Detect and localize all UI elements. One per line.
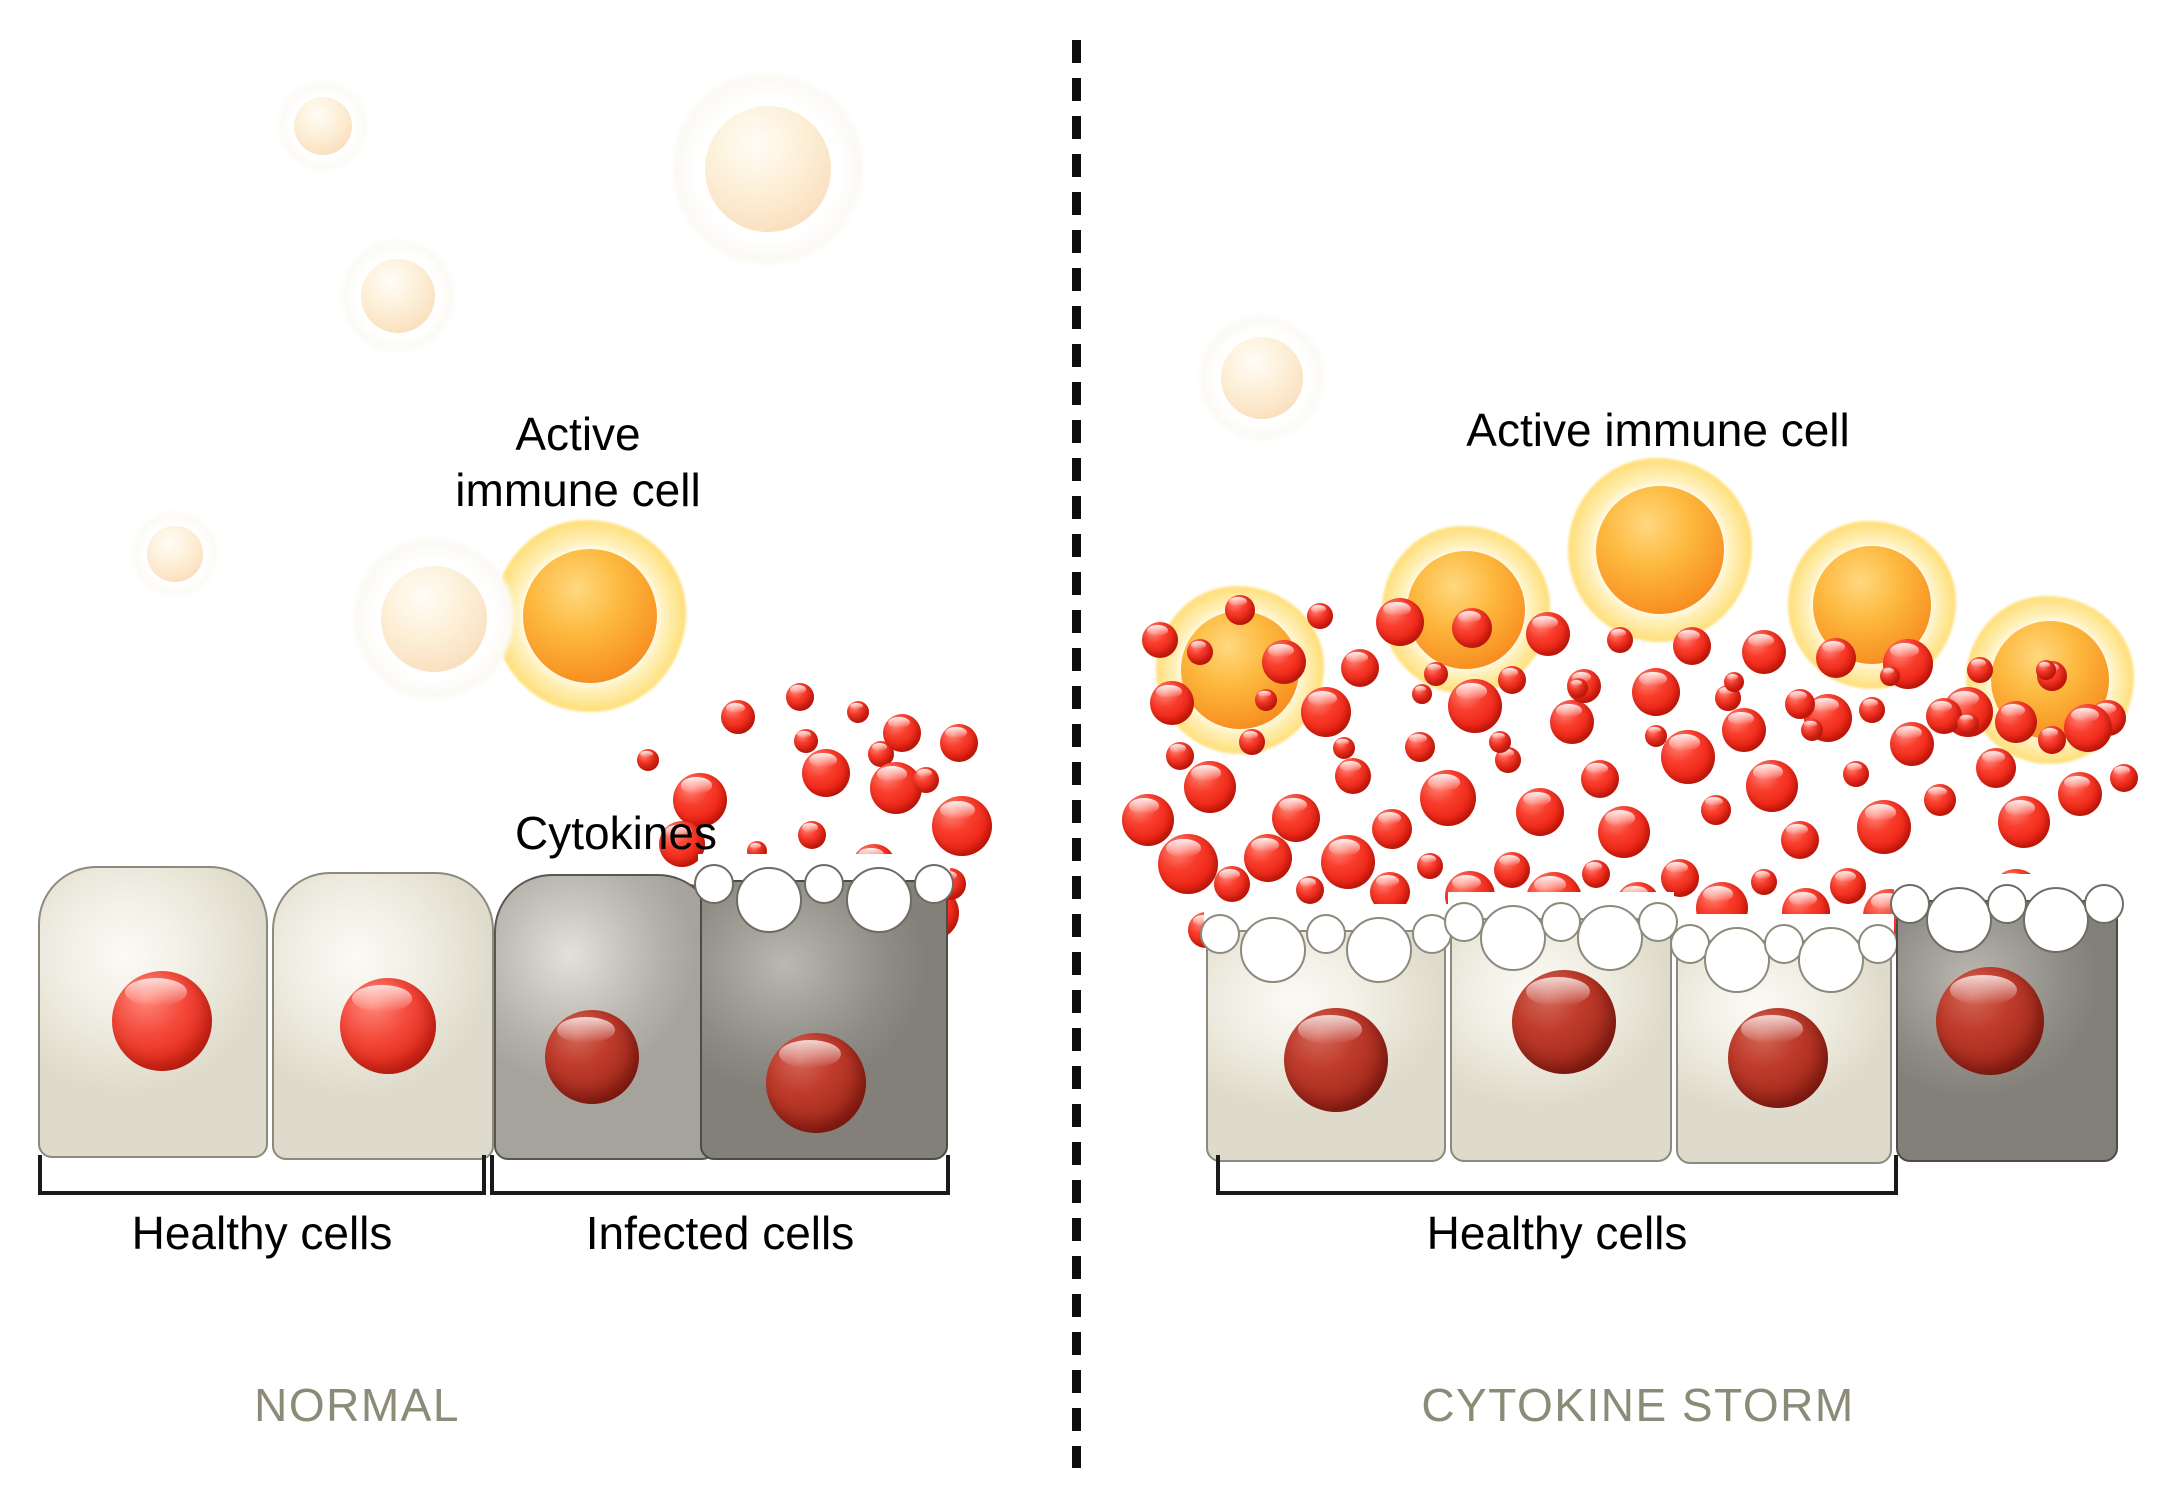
- cytokine-particle: [1998, 796, 2050, 848]
- cytokine-particle: [1184, 761, 1236, 813]
- cytokine-particle: [1568, 678, 1588, 698]
- cytokine-particle: [1967, 657, 1993, 683]
- inactive-immune-cell-1: [279, 82, 367, 170]
- cytokine-particle: [1785, 689, 1815, 719]
- cell-nucleus: [1512, 970, 1616, 1074]
- membrane-erosion: [1926, 887, 1992, 953]
- cytokine-particle: [870, 762, 922, 814]
- cytokine-particle: [794, 729, 818, 753]
- membrane-erosion: [1240, 917, 1306, 983]
- cytokine-particle: [1341, 649, 1379, 687]
- cytokine-particle: [2036, 660, 2056, 680]
- cytokine-particle: [1550, 700, 1594, 744]
- cell-nucleus: [1284, 1008, 1388, 1112]
- cytokine-particle: [1255, 689, 1277, 711]
- cytokine-particle: [1489, 731, 1511, 753]
- cytokine-particle: [1526, 612, 1570, 656]
- cytokine-particle: [1746, 760, 1798, 812]
- left-panel-title: NORMAL: [254, 1378, 460, 1432]
- cytokine-particle: [1582, 860, 1610, 888]
- cytokine-particle: [1272, 794, 1320, 842]
- cytokine-particle: [1150, 681, 1194, 725]
- membrane-erosion: [2084, 884, 2124, 924]
- inactive-immune-cell-4: [133, 512, 217, 596]
- cytokine-particle: [1448, 679, 1502, 733]
- membrane-erosion: [1704, 927, 1770, 993]
- healthy-cells-bracket: [1216, 1155, 1898, 1195]
- cytokine-particle: [1857, 800, 1911, 854]
- membrane-erosion: [1200, 914, 1240, 954]
- cytokine-particle: [2064, 704, 2112, 752]
- cytokine-particle: [1830, 868, 1866, 904]
- cytokine-particle: [1924, 784, 1956, 816]
- cytokine-particle: [1976, 748, 2016, 788]
- cytokine-particle: [1244, 834, 1292, 882]
- cytokine-particle: [1417, 853, 1443, 879]
- cytokine-particle: [1781, 821, 1819, 859]
- cytokine-particle: [1607, 627, 1633, 653]
- cytokine-particle: [1335, 758, 1371, 794]
- cytokine-particle: [1724, 672, 1744, 692]
- immune-cell-core: [705, 106, 830, 231]
- cytokine-particle: [1412, 684, 1432, 704]
- cytokine-particle: [1452, 608, 1492, 648]
- cytokine-particle: [1751, 869, 1777, 895]
- immune-cell-core: [294, 97, 352, 155]
- cytokine-particle: [1372, 809, 1412, 849]
- cytokine-particle: [1158, 834, 1218, 894]
- immune-cell-core: [361, 259, 435, 333]
- healthy-cells-label: Healthy cells: [1427, 1205, 1688, 1261]
- cytokine-particle: [1166, 742, 1194, 770]
- cytokine-particle: [1995, 701, 2037, 743]
- membrane-erosion: [804, 864, 844, 904]
- cytokine-particle: [1296, 876, 1324, 904]
- inactive-immune-cell-3: [673, 74, 863, 264]
- inactive-immune-cell-5: [354, 539, 514, 699]
- infected-cells-label: Infected cells: [586, 1205, 854, 1261]
- cytokine-particle: [1494, 852, 1530, 888]
- cytokine-particle: [1333, 737, 1355, 759]
- healthy-cells-bracket: [38, 1155, 486, 1195]
- cytokine-particle: [1661, 730, 1715, 784]
- active-immune-cell-label: Active immune cell: [455, 406, 700, 518]
- cytokine-particle: [1645, 725, 1667, 747]
- cell-nucleus: [1936, 967, 2044, 1075]
- membrane-erosion: [914, 864, 954, 904]
- membrane-erosion: [1987, 884, 2027, 924]
- cytokine-particle: [1239, 729, 1265, 755]
- active-immune-cell-1: [494, 520, 686, 712]
- cytokine-particle: [1376, 598, 1424, 646]
- cytokine-particle: [1581, 760, 1619, 798]
- cytokine-particle: [1262, 640, 1306, 684]
- cytokine-particle: [883, 714, 921, 752]
- cytokine-particle: [798, 821, 826, 849]
- cytokine-particle: [1420, 770, 1476, 826]
- cytokine-particle: [2110, 764, 2138, 792]
- cytokine-particle: [1957, 713, 1979, 735]
- membrane-erosion: [1444, 902, 1484, 942]
- membrane-erosion: [1541, 902, 1581, 942]
- membrane-erosion: [846, 867, 912, 933]
- cytokine-particle: [1742, 630, 1786, 674]
- cytokine-particle: [1225, 595, 1255, 625]
- cytokine-particle: [940, 724, 978, 762]
- cytokine-particle: [721, 700, 755, 734]
- cytokine-particle: [1801, 719, 1823, 741]
- cytokine-particle: [913, 767, 939, 793]
- immune-cell-core: [381, 566, 487, 672]
- membrane-erosion: [1306, 914, 1346, 954]
- cytokine-particle: [1321, 835, 1375, 889]
- cytokine-particle: [1307, 603, 1333, 629]
- cytokine-particle: [1214, 866, 1250, 902]
- cell-nucleus: [112, 971, 212, 1071]
- healthy-cells-label: Healthy cells: [132, 1205, 393, 1261]
- cytokines-label: Cytokines: [515, 805, 717, 861]
- cytokine-particle: [847, 701, 869, 723]
- cytokine-particle: [2038, 726, 2066, 754]
- membrane-erosion: [736, 867, 802, 933]
- figure-canvas: Active immune cell Cytokines Healthy cel…: [0, 0, 2164, 1508]
- membrane-erosion: [1890, 884, 1930, 924]
- immune-cell-core: [147, 526, 202, 581]
- cell-nucleus: [766, 1033, 866, 1133]
- cell-nucleus: [545, 1010, 639, 1104]
- membrane-erosion: [694, 864, 734, 904]
- cytokine-particle: [1722, 708, 1766, 752]
- cytokine-particle: [1926, 698, 1962, 734]
- cytokine-particle: [1498, 666, 1526, 694]
- cell-nucleus: [1728, 1008, 1828, 1108]
- membrane-erosion: [1346, 917, 1412, 983]
- cell-nucleus: [340, 978, 436, 1074]
- right-panel-title: CYTOKINE STORM: [1421, 1378, 1854, 1432]
- inactive-immune-cell-1: [1200, 316, 1324, 440]
- cytokine-particle: [1843, 761, 1869, 787]
- panel-divider: [1072, 40, 1081, 1468]
- cytokine-particle: [1673, 627, 1711, 665]
- membrane-erosion: [2023, 887, 2089, 953]
- cytokine-particle: [802, 749, 850, 797]
- cytokine-particle: [1187, 639, 1213, 665]
- cytokine-particle: [1859, 697, 1885, 723]
- membrane-erosion: [1798, 927, 1864, 993]
- membrane-erosion: [1480, 905, 1546, 971]
- cytokine-particle: [1122, 794, 1174, 846]
- active-immune-cell-label: Active immune cell: [1466, 402, 1849, 458]
- immune-cell-core: [523, 549, 657, 683]
- cytokine-particle: [786, 683, 814, 711]
- immune-cell-core: [1221, 337, 1303, 419]
- cytokine-particle: [932, 796, 992, 856]
- infected-cells-bracket: [490, 1155, 950, 1195]
- cytokine-particle: [1405, 732, 1435, 762]
- cytokine-particle: [1301, 687, 1351, 737]
- active-immune-cell-3: [1568, 458, 1752, 642]
- immune-cell-core: [1596, 486, 1725, 615]
- membrane-erosion: [1577, 905, 1643, 971]
- membrane-erosion: [1858, 924, 1898, 964]
- cytokine-particle: [2058, 772, 2102, 816]
- cytokine-particle: [1516, 788, 1564, 836]
- cytokine-particle: [637, 749, 659, 771]
- cytokine-particle: [1142, 622, 1178, 658]
- cytokine-particle: [1701, 795, 1731, 825]
- cytokine-particle: [1816, 638, 1856, 678]
- cytokine-particle: [1890, 722, 1934, 766]
- inactive-immune-cell-2: [342, 240, 454, 352]
- cytokine-particle: [1424, 662, 1448, 686]
- cytokine-particle: [1598, 806, 1650, 858]
- cytokine-particle: [1880, 666, 1900, 686]
- cytokine-particle: [1632, 668, 1680, 716]
